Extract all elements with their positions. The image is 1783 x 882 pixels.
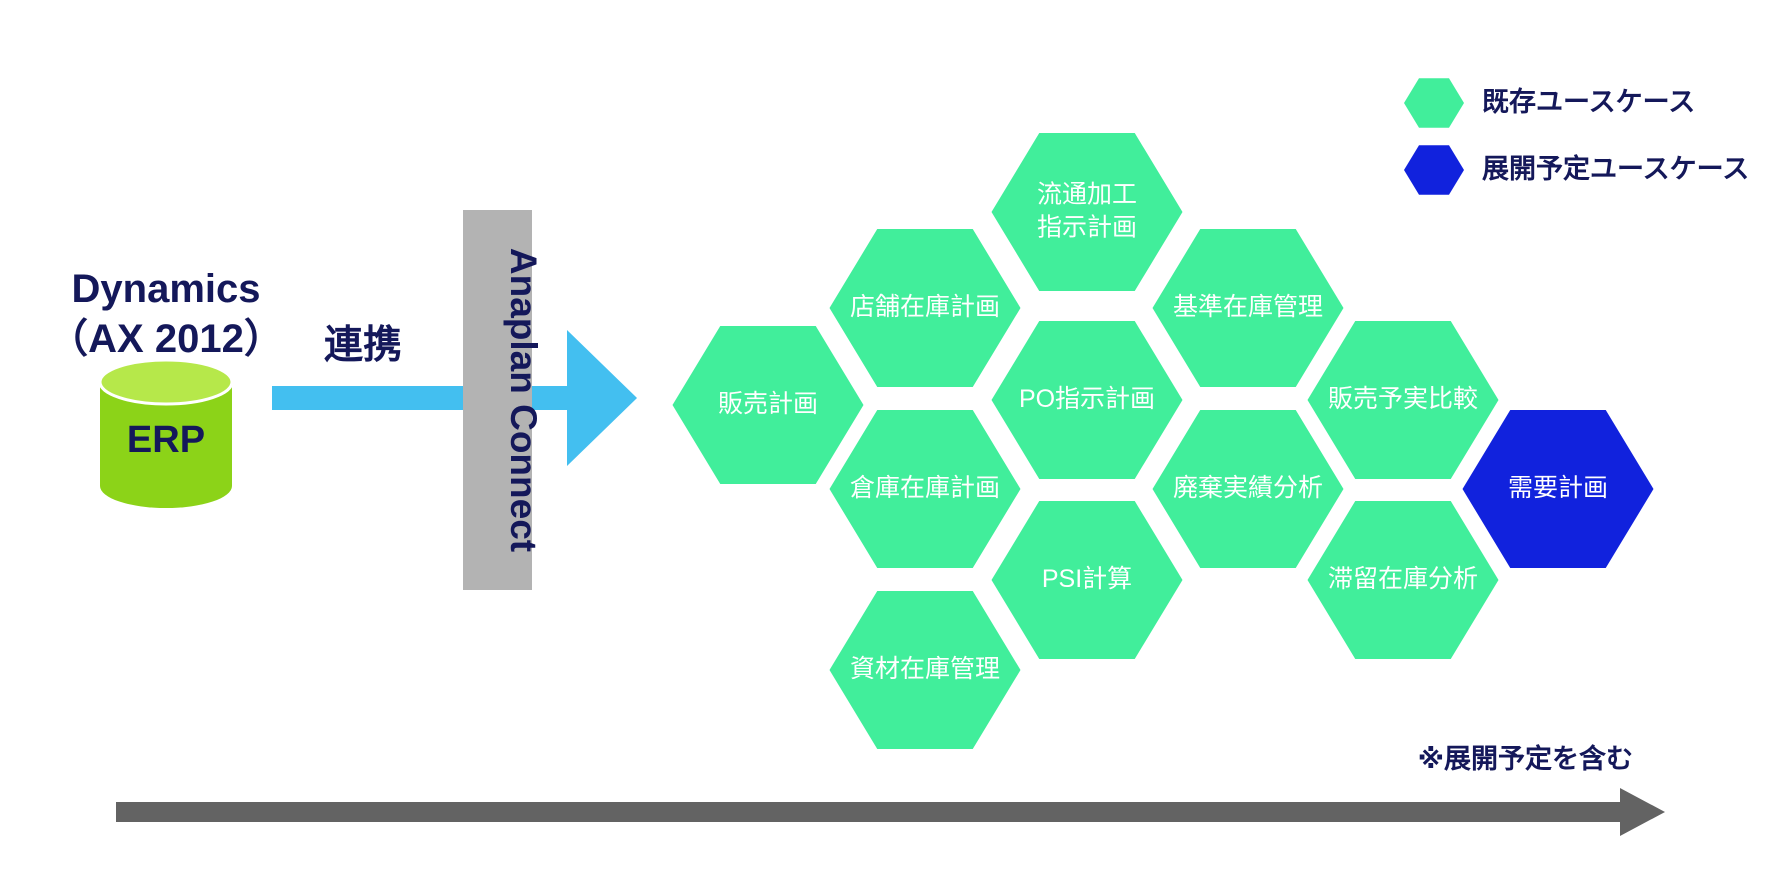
source-title-line2: （AX 2012） [48,317,284,361]
usecase-hexagon[interactable]: 流通加工指示計画 [992,133,1183,291]
blue-hexagon-swatch [1404,145,1464,195]
usecase-hexagon-label: PO指示計画 [1019,385,1155,413]
usecase-hexagon[interactable]: 需要計画 [1463,410,1654,568]
connector-bar-label: Anaplan Connect [503,248,544,552]
integration-arrow-label: 連携 [324,324,402,367]
usecase-hexagon-label: 基準在庫管理 [1173,293,1323,321]
source-title-line1: Dynamics [72,267,261,311]
legend-item: 既存ユースケース [1404,78,1695,128]
diagram-canvas: Dynamics （AX 2012） ERP 連携 Anaplan Connec… [0,0,1783,882]
usecase-hexagon-label: 滞留在庫分析 [1328,565,1478,593]
usecase-hexagon-cluster: 販売計画店舗在庫計画倉庫在庫計画資材在庫管理流通加工指示計画PO指示計画PSI計… [673,133,1654,749]
usecase-hexagon-shape [992,133,1183,291]
usecase-hexagon-label: 販売予実比較 [1328,385,1478,413]
usecase-hexagon[interactable]: 廃棄実績分析 [1153,410,1344,568]
legend: 既存ユースケース展開予定ユースケース [1404,78,1749,195]
usecase-hexagon[interactable]: 基準在庫管理 [1153,229,1344,387]
timeline-arrow-icon [116,788,1665,836]
usecase-hexagon[interactable]: PSI計算 [992,501,1183,659]
usecase-hexagon[interactable]: 倉庫在庫計画 [830,410,1021,568]
usecase-hexagon[interactable]: 資材在庫管理 [830,591,1021,749]
usecase-hexagon[interactable]: 販売計画 [673,326,864,484]
usecase-hexagon[interactable]: 滞留在庫分析 [1308,501,1499,659]
source-system-group: Dynamics （AX 2012） ERP [48,267,284,508]
erp-label: ERP [127,419,205,461]
usecase-hexagon-label: 販売計画 [718,390,818,418]
legend-item: 展開予定ユースケース [1404,145,1749,195]
footnote-text: ※展開予定を含む [1418,743,1633,774]
usecase-hexagon-label: 需要計画 [1508,474,1608,502]
legend-item-label: 展開予定ユースケース [1482,153,1749,184]
anaplan-connect-bar: Anaplan Connect [463,210,544,590]
green-hexagon-swatch [1404,78,1464,128]
usecase-hexagon-label: 資材在庫管理 [850,655,1000,683]
legend-item-label: 既存ユースケース [1482,87,1695,117]
anaplan-usecase-diagram: Dynamics （AX 2012） ERP 連携 Anaplan Connec… [0,0,1783,882]
usecase-hexagon[interactable]: 店舗在庫計画 [830,229,1021,387]
usecase-hexagon-label: PSI計算 [1042,565,1132,593]
usecase-hexagon-label: 廃棄実績分析 [1173,474,1323,502]
usecase-hexagon-label: 店舗在庫計画 [850,293,1000,321]
usecase-hexagon[interactable]: PO指示計画 [992,321,1183,479]
usecase-hexagon-label: 倉庫在庫計画 [850,474,1000,502]
timeline-arrow [116,788,1665,836]
integration-arrow-group: 連携 [272,324,637,466]
usecase-hexagon[interactable]: 販売予実比較 [1308,321,1499,479]
